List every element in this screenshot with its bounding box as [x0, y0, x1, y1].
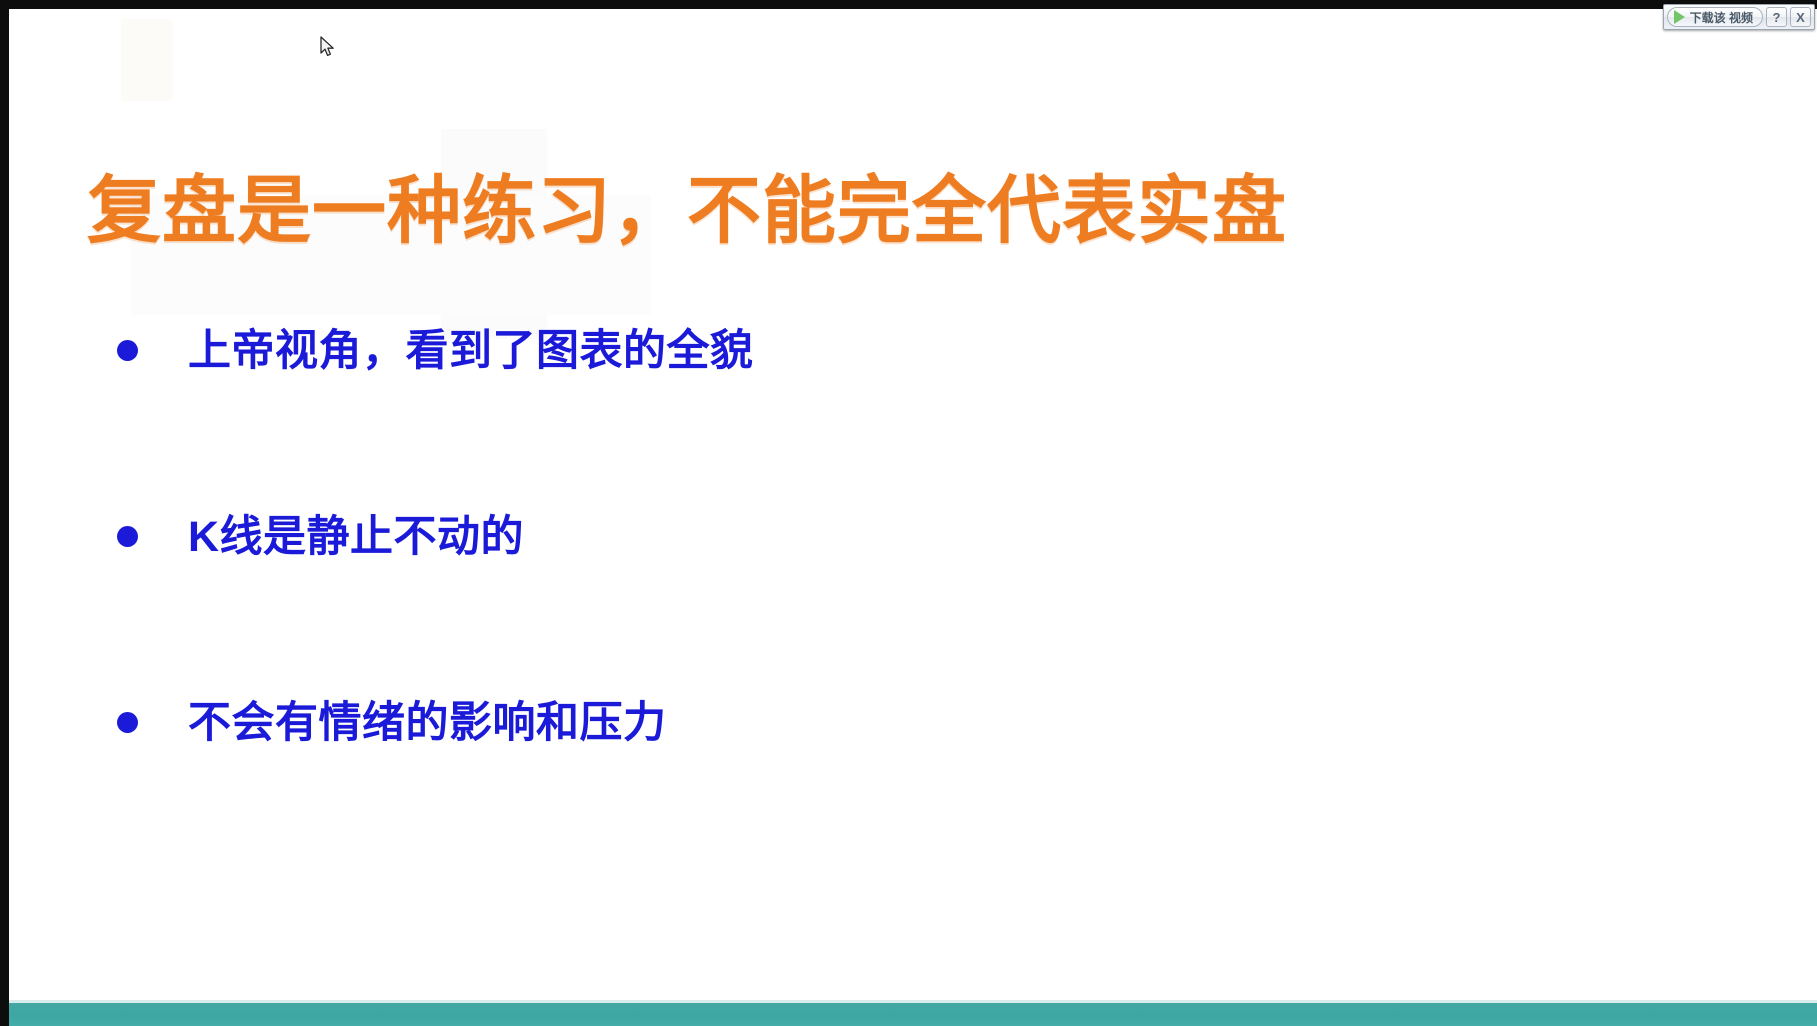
download-video-button[interactable]: 下载该 视频	[1667, 7, 1763, 27]
bullet-dot-icon	[117, 340, 138, 361]
presentation-slide: 复盘是一种练习，不能完全代表实盘 上帝视角，看到了图表的全貌 K线是静止不动的 …	[9, 9, 1817, 1026]
list-item-label: 上帝视角，看到了图表的全貌	[188, 309, 754, 393]
compression-artifact	[121, 19, 173, 101]
help-button[interactable]: ?	[1766, 7, 1787, 27]
list-item-label: 不会有情绪的影响和压力	[188, 681, 667, 765]
video-player-frame[interactable]: 复盘是一种练习，不能完全代表实盘 上帝视角，看到了图表的全貌 K线是静止不动的 …	[0, 0, 1817, 1026]
bullet-list: 上帝视角，看到了图表的全貌 K线是静止不动的 不会有情绪的影响和压力	[109, 309, 1609, 867]
bullet-dot-icon	[117, 712, 138, 733]
close-button[interactable]: X	[1790, 7, 1811, 27]
list-item-label: K线是静止不动的	[188, 495, 524, 579]
play-triangle-icon	[1674, 10, 1685, 24]
bullet-dot-icon	[117, 526, 138, 547]
list-item: K线是静止不动的	[109, 495, 1609, 681]
list-item: 上帝视角，看到了图表的全貌	[109, 309, 1609, 495]
download-video-overlay[interactable]: 下载该 视频 ? X	[1663, 4, 1815, 30]
download-video-label: 下载该 视频	[1690, 9, 1753, 26]
slide-title: 复盘是一种练习，不能完全代表实盘	[87, 165, 1287, 257]
footer-band	[9, 1003, 1817, 1026]
list-item: 不会有情绪的影响和压力	[109, 681, 1609, 867]
